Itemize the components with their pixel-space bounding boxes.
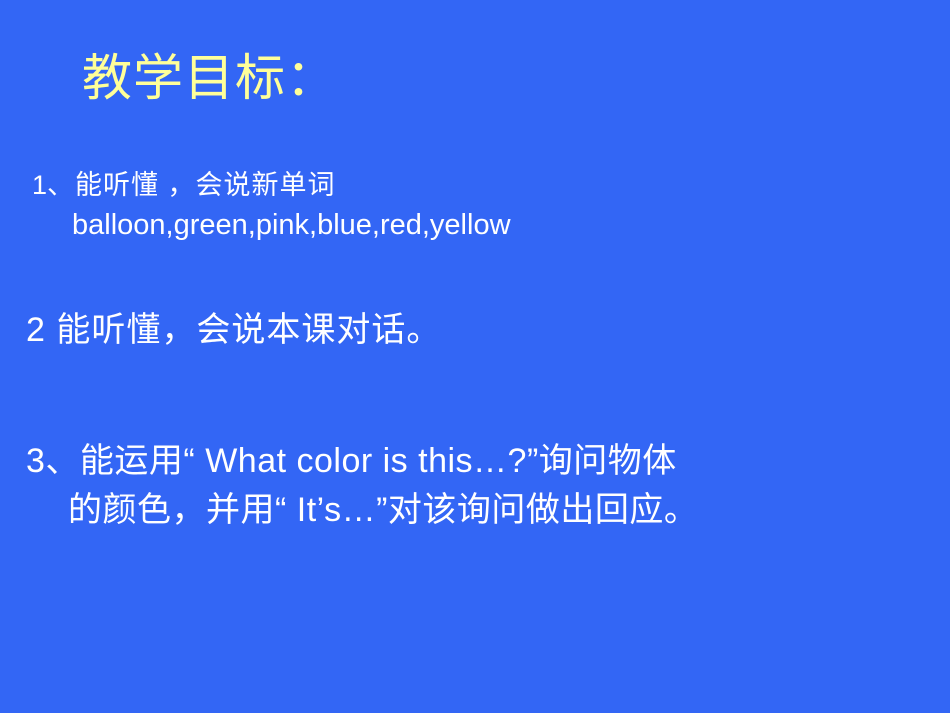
objective-1-marker: 、 [47,170,75,200]
objective-2-number: 2 [26,311,46,349]
objective-3-main-row: 3、能运用“ What color is this…?”询问物体 [26,437,698,486]
objective-3-number: 3 [26,442,45,480]
page-title: 教学目标： [82,51,337,106]
objective-2-text: 能听懂，会说本课对话。 [56,311,441,349]
objective-1-text: 能听懂 ，会说新单词 [75,170,336,200]
objective-3-marker: 、 [45,442,80,480]
slide-canvas: 教学目标： 1、能听懂 ，会说新单词 balloon,green,pink,bl… [0,0,950,713]
objective-3-continuation: 的颜色，并用“ It’s…”对该询问做出回应。 [68,486,698,535]
objective-1-main-row: 1、能听懂 ，会说新单词 [32,170,511,202]
objective-1-number: 1 [32,170,47,200]
objective-3-text: 能运用“ What color is this…?”询问物体 [80,442,677,480]
objective-item-3: 3、能运用“ What color is this…?”询问物体 的颜色，并用“… [26,437,698,536]
objective-item-2: 2 能听懂，会说本课对话。 [26,310,441,351]
objective-item-1: 1、能听懂 ，会说新单词 balloon,green,pink,blue,red… [32,170,511,242]
objective-1-vocabulary: balloon,green,pink,blue,red,yellow [72,208,511,242]
